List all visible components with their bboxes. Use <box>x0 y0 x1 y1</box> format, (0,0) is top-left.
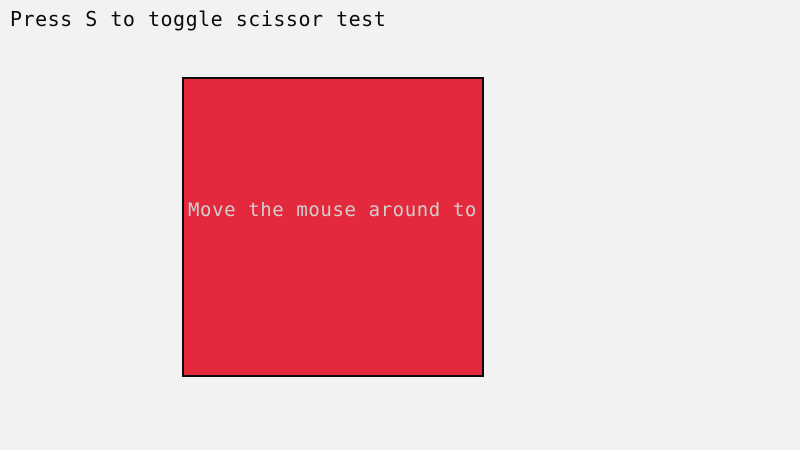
instruction-text: Press S to toggle scissor test <box>10 8 386 30</box>
scissor-clip-layer: Move the mouse around to r <box>184 79 482 375</box>
demo-canvas[interactable]: Press S to toggle scissor test Move the … <box>0 0 800 450</box>
scissor-rectangle[interactable]: Move the mouse around to r <box>182 77 484 377</box>
scissor-clipped-text: Move the mouse around to r <box>188 199 482 221</box>
